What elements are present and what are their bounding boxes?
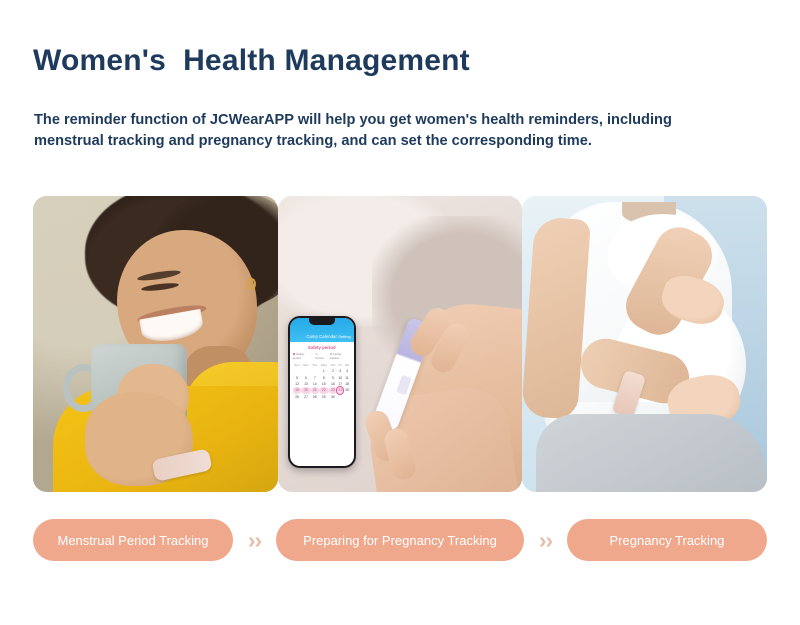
period-calendar[interactable]: Sun Mon Tue Wed Thu Fri Sat <box>293 362 351 400</box>
calendar-day[interactable]: 27 <box>301 394 310 400</box>
calendar-day[interactable]: 26 <box>293 394 302 400</box>
page-subtitle: The reminder function of JCWearAPP will … <box>34 110 734 152</box>
chevron-right-icon: ›› <box>539 527 552 554</box>
pregnancy-card <box>522 196 767 492</box>
calendar-body: 1 2 3 4 5 6 7 8 9 <box>293 368 351 400</box>
image-card-row: Camp Calendar Setting Safety period Safe… <box>33 196 767 492</box>
step-pill-menstrual-period-tracking[interactable]: Menstrual Period Tracking <box>33 519 233 561</box>
step-flow: Menstrual Period Tracking ›› Preparing f… <box>33 516 767 564</box>
phone-settings-button[interactable]: Setting <box>338 334 350 339</box>
safety-period-title: Safety period <box>293 345 351 350</box>
calendar-day[interactable]: 30 <box>329 394 337 400</box>
grey-leggings <box>536 414 766 492</box>
calendar-day[interactable]: 29 <box>319 394 329 400</box>
calendar-legend: Safety period Period Fertile window <box>293 352 351 360</box>
legend-item: Fertile window <box>330 352 351 360</box>
page-root: Women's Health Management The reminder f… <box>0 0 800 625</box>
calendar-week-row: 26 27 28 29 30 <box>293 394 351 400</box>
step-pill-preparing-for-pregnancy-tracking[interactable]: Preparing for Pregnancy Tracking <box>276 519 524 561</box>
phone-app-body: Safety period Safety period Period Ferti… <box>290 342 354 400</box>
chevron-right-icon: ›› <box>248 527 261 554</box>
earring-icon <box>247 278 256 290</box>
step-pill-pregnancy-tracking[interactable]: Pregnancy Tracking <box>567 519 767 561</box>
page-title: Women's Health Management <box>33 44 470 78</box>
menstrual-period-card <box>33 196 278 492</box>
phone-screen: Camp Calendar Setting Safety period Safe… <box>290 318 354 466</box>
preparing-pregnancy-card: Camp Calendar Setting Safety period Safe… <box>278 196 523 492</box>
legend-item: Safety period <box>293 352 313 360</box>
calendar-day[interactable]: 28 <box>311 394 319 400</box>
legend-item: Period <box>315 352 326 360</box>
phone-app-header: Camp Calendar Setting <box>290 318 354 342</box>
calendar-day[interactable] <box>343 394 350 400</box>
phone-notch <box>309 318 335 325</box>
smartphone: Camp Calendar Setting Safety period Safe… <box>288 316 356 468</box>
